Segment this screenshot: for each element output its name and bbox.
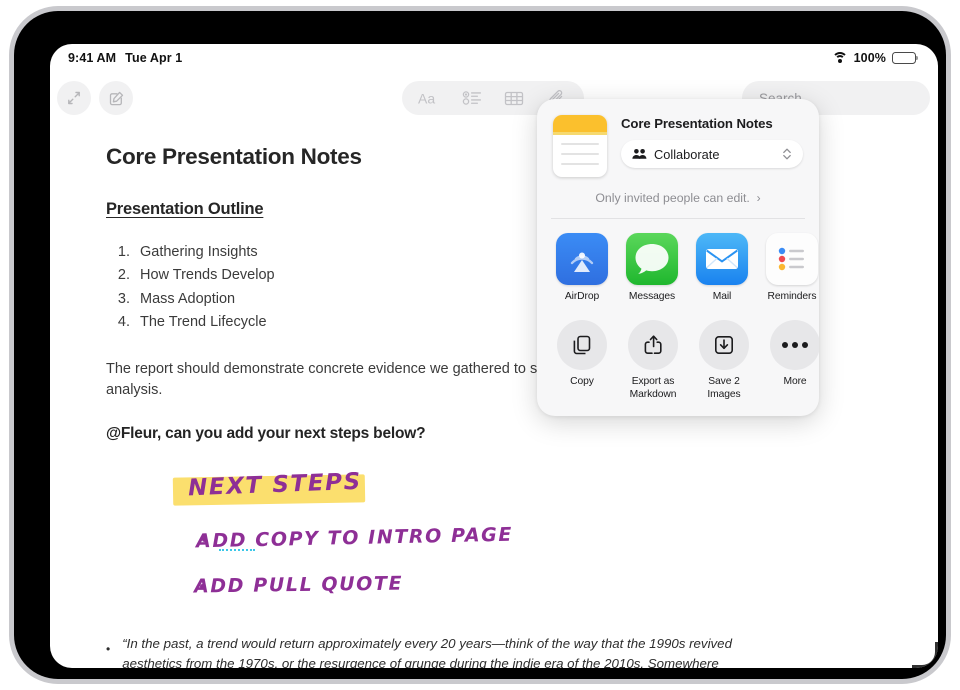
chevron-right-icon: › [753, 191, 760, 205]
share-action-more[interactable]: More [764, 320, 819, 402]
share-actions-row: Copy Export as Markdown [537, 312, 819, 406]
handwritten-annotation[interactable]: NEXT STEPS ADD COPY TO INTRO PAGE ADD PU… [160, 464, 580, 614]
share-sheet[interactable]: Core Presentation Notes Collaborate [537, 99, 819, 416]
quote-block: • “In the past, a trend would return app… [106, 634, 746, 668]
status-bar: 9:41 AM Tue Apr 1 100% [50, 44, 938, 72]
collapse-sidebar-button[interactable] [57, 81, 91, 115]
bullet-marker: • [106, 640, 110, 668]
note-subheading: Presentation Outline [106, 200, 263, 219]
share-app-label: Messages [623, 291, 681, 302]
messages-icon [626, 233, 678, 285]
battery-icon [892, 52, 916, 64]
share-action-label: Save 2 Images [693, 376, 755, 402]
share-sheet-header: Core Presentation Notes Collaborate [537, 99, 819, 177]
share-action-copy[interactable]: Copy [551, 320, 613, 402]
share-action-label: Export as Markdown [622, 376, 684, 402]
status-date: Tue Apr 1 [125, 51, 182, 65]
note-thumbnail-icon [553, 115, 607, 177]
reminders-icon [766, 233, 818, 285]
format-aa-icon[interactable]: Aa [416, 87, 442, 109]
wifi-icon [832, 52, 848, 64]
share-action-export-markdown[interactable]: Export as Markdown [622, 320, 684, 402]
export-markdown-icon [628, 320, 678, 370]
airdrop-icon [556, 233, 608, 285]
copy-icon [557, 320, 607, 370]
share-app-airdrop[interactable]: AirDrop [553, 233, 611, 302]
save-images-icon [699, 320, 749, 370]
ipad-screen: 9:41 AM Tue Apr 1 100% [50, 44, 938, 668]
share-app-mail[interactable]: Mail [693, 233, 751, 302]
people-icon [632, 148, 647, 160]
status-bar-right: 100% [832, 51, 916, 65]
collaborate-label: Collaborate [654, 147, 775, 162]
device-frame: 9:41 AM Tue Apr 1 100% [14, 11, 946, 679]
share-permission-label: Only invited people can edit. [595, 191, 750, 205]
share-action-save-images[interactable]: Save 2 Images [693, 320, 755, 402]
share-header-text: Core Presentation Notes Collaborate [621, 115, 803, 168]
more-ellipsis-icon [770, 320, 819, 370]
dotted-underline [219, 549, 255, 551]
share-action-label: More [764, 376, 819, 389]
svg-text:Aa: Aa [418, 91, 435, 106]
status-time: 9:41 AM [68, 51, 116, 65]
handwriting-line-2: ADD PULL QUOTE [194, 573, 403, 598]
compose-icon [108, 90, 125, 107]
share-apps-row: AirDrop Messages [537, 219, 819, 312]
collaborate-dropdown[interactable]: Collaborate [621, 140, 803, 168]
share-app-messages[interactable]: Messages [623, 233, 681, 302]
compose-note-button[interactable] [99, 81, 133, 115]
quote-text: “In the past, a trend would return appro… [122, 634, 746, 668]
share-app-reminders[interactable]: Reminders [763, 233, 819, 302]
mail-icon [696, 233, 748, 285]
note-mention-line: @Fleur, can you add your next steps belo… [106, 425, 882, 443]
battery-percent-label: 100% [854, 51, 886, 65]
share-sheet-title: Core Presentation Notes [621, 116, 803, 131]
collapse-arrows-icon [66, 90, 82, 106]
share-app-label: Reminders [763, 291, 819, 302]
chevron-up-down-icon [782, 147, 792, 161]
share-action-label: Copy [551, 376, 613, 389]
share-app-label: Mail [693, 291, 751, 302]
share-app-label: AirDrop [553, 291, 611, 302]
share-permission-row[interactable]: Only invited people can edit. › [537, 177, 819, 218]
checklist-icon[interactable] [459, 87, 485, 109]
table-icon[interactable] [501, 87, 527, 109]
status-bar-left: 9:41 AM Tue Apr 1 [68, 51, 182, 65]
